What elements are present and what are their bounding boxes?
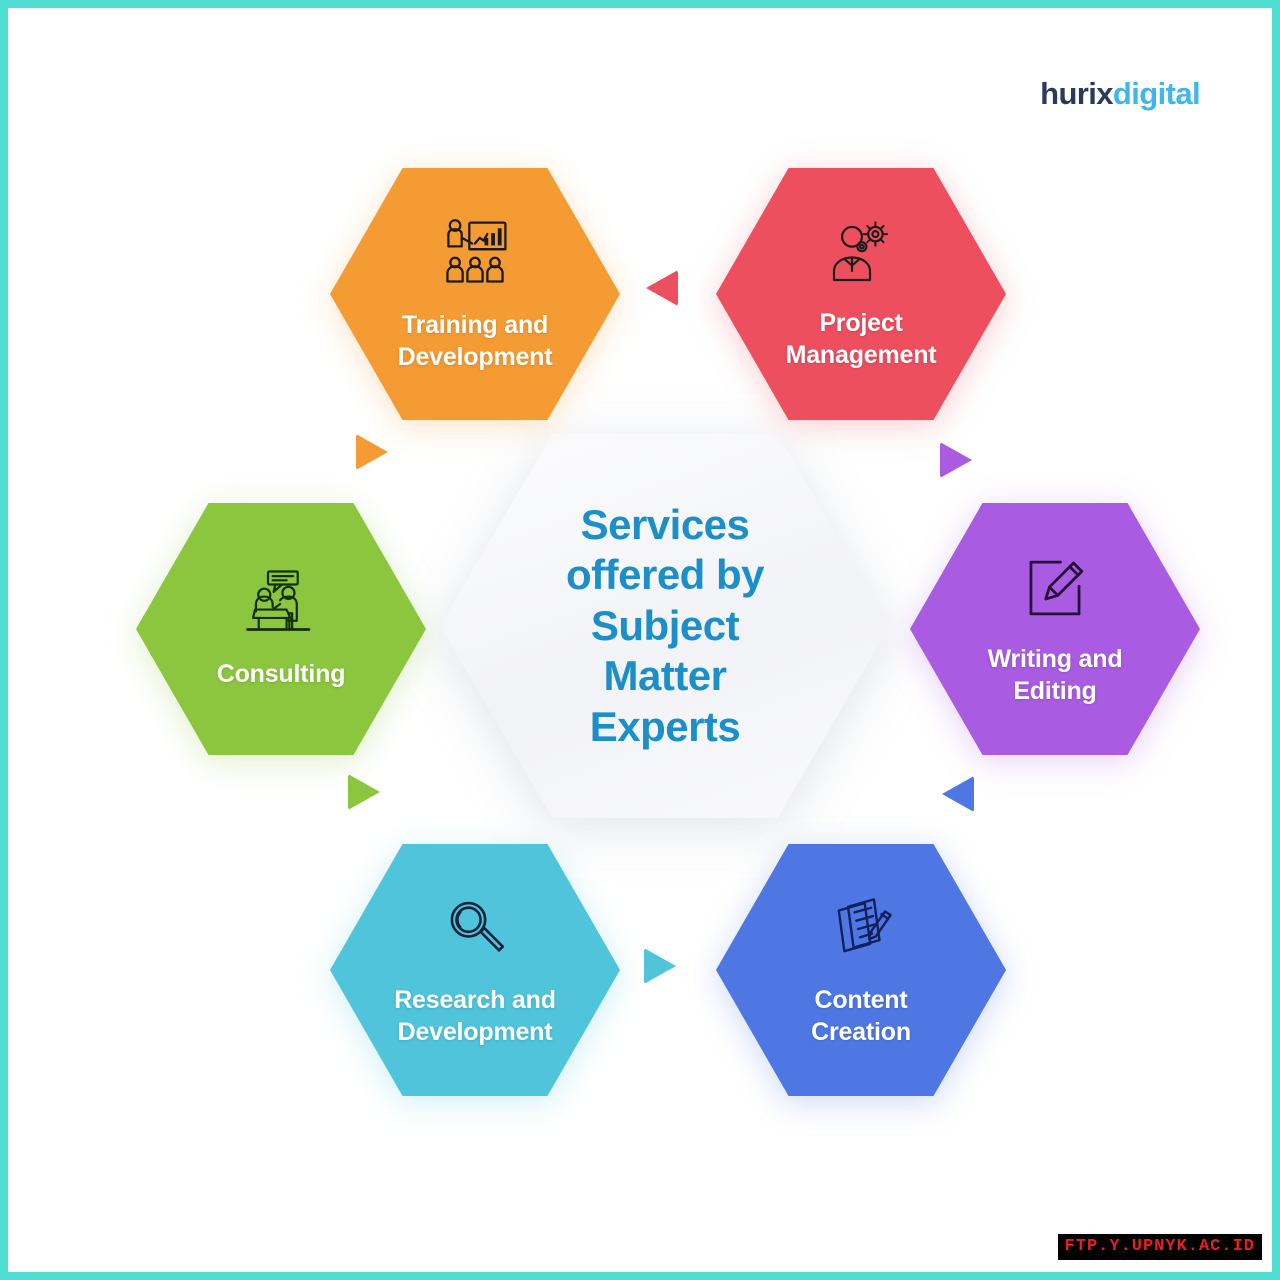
hexagon-consulting-fill: Consulting bbox=[136, 495, 426, 763]
hexagon-writing-and-editing-fill: Writing and Editing bbox=[910, 495, 1200, 763]
hexagon-label-training-and-development: Training and Development bbox=[388, 309, 563, 373]
connector-blue-arrow bbox=[942, 776, 974, 812]
hexagon-consulting[interactable]: Consulting bbox=[136, 495, 426, 763]
connector-green-arrow bbox=[348, 774, 380, 810]
hexagon-research-and-development[interactable]: Research and Development bbox=[330, 836, 620, 1104]
connector-orange-arrow bbox=[356, 434, 388, 470]
hexagon-label-writing-and-editing: Writing and Editing bbox=[978, 643, 1133, 707]
connector-purple-arrow bbox=[940, 442, 972, 478]
hexagon-label-project-management: Project Management bbox=[776, 307, 947, 371]
magnifying-glass-icon bbox=[438, 892, 512, 966]
hexagon-project-management-fill: Project Management bbox=[716, 160, 1006, 428]
pencil-edit-square-icon bbox=[1018, 551, 1092, 625]
hexagon-label-research-and-development: Research and Development bbox=[384, 984, 566, 1048]
hexagon-label-content-creation: Content Creation bbox=[801, 984, 921, 1048]
connector-red-arrow bbox=[646, 270, 678, 306]
hurix-digital-logo: hurixdigital bbox=[1040, 76, 1200, 112]
connector-cyan-arrow bbox=[644, 948, 676, 984]
hexagon-training-and-development-fill: Training and Development bbox=[330, 160, 620, 428]
watermark: FTP.Y.UPNYK.AC.ID bbox=[1058, 1234, 1262, 1260]
center-title: Services offered by Subject Matter Exper… bbox=[566, 500, 764, 752]
two-people-desk-speech-icon bbox=[242, 568, 320, 640]
hexagon-research-and-development-fill: Research and Development bbox=[330, 836, 620, 1104]
center-hexagon: Services offered by Subject Matter Exper… bbox=[440, 426, 890, 826]
hexagon-writing-and-editing[interactable]: Writing and Editing bbox=[910, 495, 1200, 763]
hexagon-content-creation-fill: Content Creation bbox=[716, 836, 1006, 1104]
infographic-canvas: hurixdigital Services offered by Subject… bbox=[8, 8, 1272, 1272]
center-hexagon-fill: Services offered by Subject Matter Exper… bbox=[440, 426, 890, 826]
hexagon-training-and-development[interactable]: Training and Development bbox=[330, 160, 620, 428]
logo-text-digital: digital bbox=[1113, 76, 1200, 111]
document-with-pen-icon bbox=[824, 892, 898, 966]
presenter-whiteboard-audience-icon bbox=[437, 215, 513, 291]
person-with-gears-icon bbox=[825, 217, 897, 289]
hexagon-label-consulting: Consulting bbox=[207, 658, 356, 690]
hexagon-project-management[interactable]: Project Management bbox=[716, 160, 1006, 428]
hexagon-content-creation[interactable]: Content Creation bbox=[716, 836, 1006, 1104]
logo-text-hurix: hurix bbox=[1040, 76, 1113, 111]
